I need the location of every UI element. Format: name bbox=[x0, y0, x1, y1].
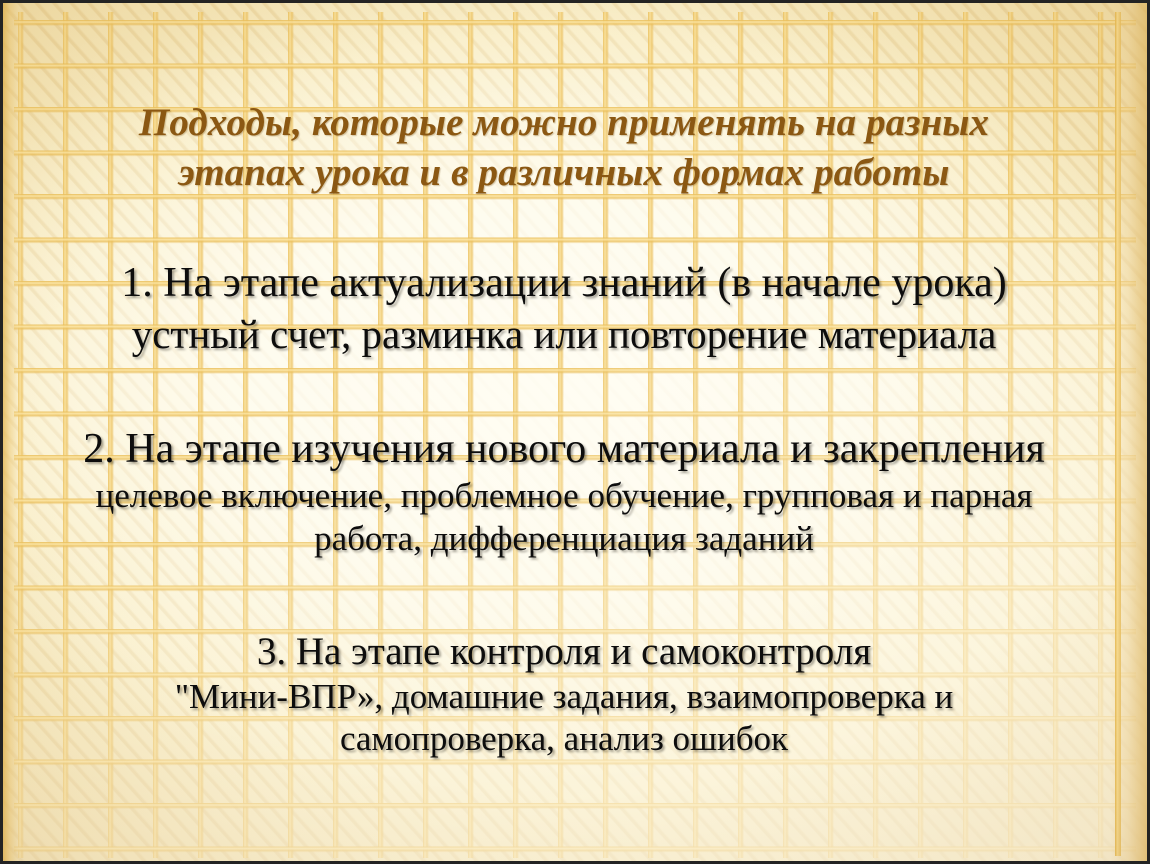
stage-block-2: 2. На этапе изучения нового материала и … bbox=[24, 424, 1104, 561]
stage-block-1: 1. На этапе актуализации знаний (в начал… bbox=[24, 258, 1104, 359]
stage-1-detail-line-1: устный счет, разминка или повторение мат… bbox=[24, 309, 1104, 359]
stage-2-heading: 2. На этапе изучения нового материала и … bbox=[24, 424, 1104, 475]
stage-3-detail-line-1: "Мини-ВПР», домашние задания, взаимопров… bbox=[24, 676, 1104, 719]
stage-block-3: 3. На этапе контроля и самоконтроля "Мин… bbox=[24, 628, 1104, 761]
stage-2-detail-line-2: работа, дифференциация заданий bbox=[24, 518, 1104, 561]
stage-3-detail-line-2: самопроверка, анализ ошибок bbox=[24, 718, 1104, 761]
slide-content: Подходы, которые можно применять на разн… bbox=[0, 0, 1150, 864]
stage-3-heading: 3. На этапе контроля и самоконтроля bbox=[24, 628, 1104, 676]
stage-1-heading: 1. На этапе актуализации знаний (в начал… bbox=[24, 258, 1104, 309]
slide-title-line-1: Подходы, которые можно применять на разн… bbox=[40, 98, 1088, 148]
slide-title-line-2: этапах урока и в различных формах работы bbox=[40, 148, 1088, 198]
slide-title: Подходы, которые можно применять на разн… bbox=[40, 98, 1088, 198]
stage-2-detail-line-1: целевое включение, проблемное обучение, … bbox=[24, 475, 1104, 518]
slide-canvas: Подходы, которые можно применять на разн… bbox=[0, 0, 1150, 864]
